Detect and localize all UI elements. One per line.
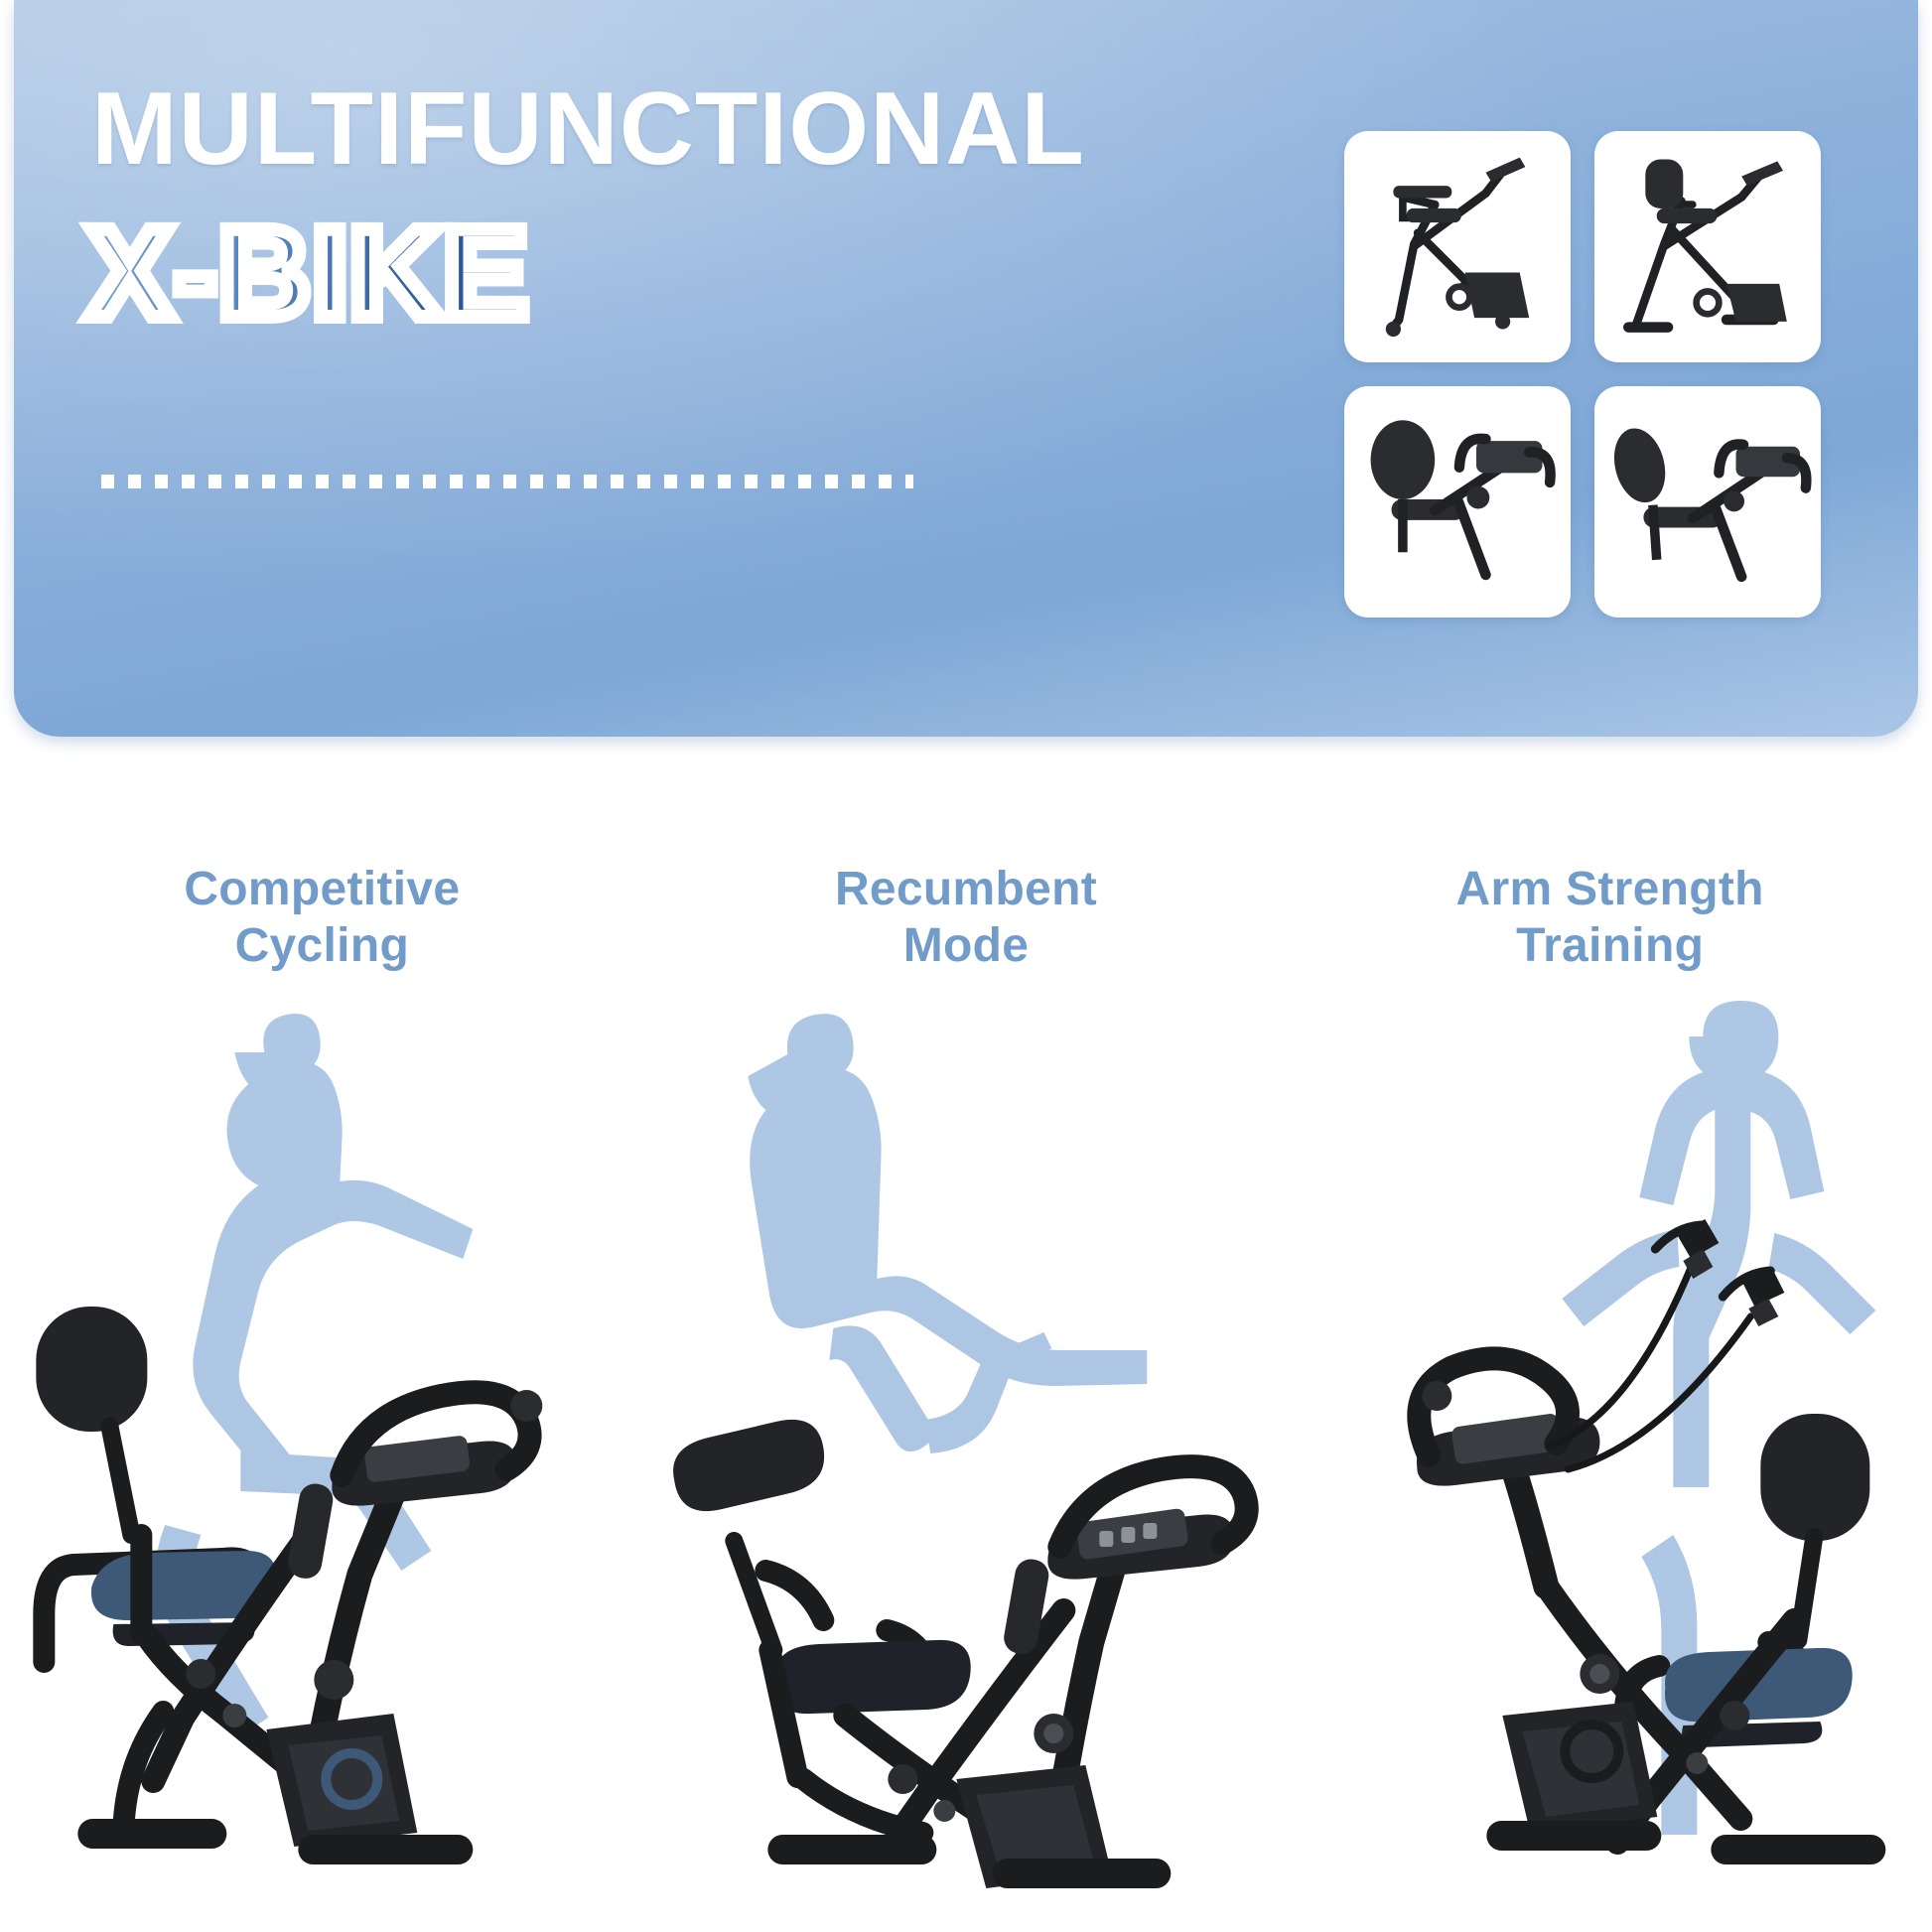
thumbnail-card-3[interactable]: [1344, 386, 1571, 618]
dotted-divider: [101, 475, 913, 488]
mode-competitive-cycling: Competitive Cycling: [0, 830, 644, 1932]
mode-label-arm-strength: Arm Strength Training: [1288, 862, 1932, 974]
product-name-text: X-BIKE: [87, 210, 530, 338]
bike-competitive: [36, 1307, 542, 1864]
usage-modes-section: Competitive Cycling: [0, 830, 1932, 1932]
mode-label-line2: Mode: [903, 919, 1030, 972]
bike-arm-strength: [1417, 1219, 1885, 1864]
product-infographic: MULTIFUNCTIONAL X-BIKE: [0, 0, 1932, 1932]
thumb-seat-angle-icon: [1594, 386, 1821, 613]
thumb-upright-full-icon: [1594, 131, 1821, 357]
mode-recumbent: Recumbent Mode: [644, 830, 1289, 1932]
mode-label-line2: Training: [1516, 919, 1704, 972]
thumbnail-card-1[interactable]: [1344, 131, 1571, 362]
mode-image-recumbent: [644, 979, 1289, 1902]
bike-recumbent: [673, 1420, 1247, 1888]
thumb-folded-side-icon: [1344, 131, 1571, 357]
silhouette-reclined-reader: [748, 1014, 1147, 1453]
page-title: MULTIFUNCTIONAL: [91, 77, 1085, 181]
thumbnail-card-4[interactable]: [1594, 386, 1821, 618]
mode-label-line2: Cycling: [235, 919, 409, 972]
mode-label-line1: Competitive: [184, 863, 460, 915]
hero-panel: MULTIFUNCTIONAL X-BIKE: [14, 0, 1918, 737]
mode-image-arm-strength: [1288, 979, 1932, 1902]
mode-label-competitive-cycling: Competitive Cycling: [0, 862, 644, 974]
mode-image-competitive-cycling: [0, 979, 644, 1902]
product-name: X-BIKE: [87, 210, 530, 338]
thumbnail-card-2[interactable]: [1594, 131, 1821, 362]
thumbnail-grid: [1344, 131, 1821, 618]
mode-label-line1: Arm Strength: [1456, 863, 1764, 915]
mode-label-recumbent: Recumbent Mode: [644, 862, 1289, 974]
thumb-seat-closeup-icon: [1344, 386, 1571, 613]
mode-arm-strength: Arm Strength Training: [1288, 830, 1932, 1932]
mode-label-line1: Recumbent: [835, 863, 1097, 915]
